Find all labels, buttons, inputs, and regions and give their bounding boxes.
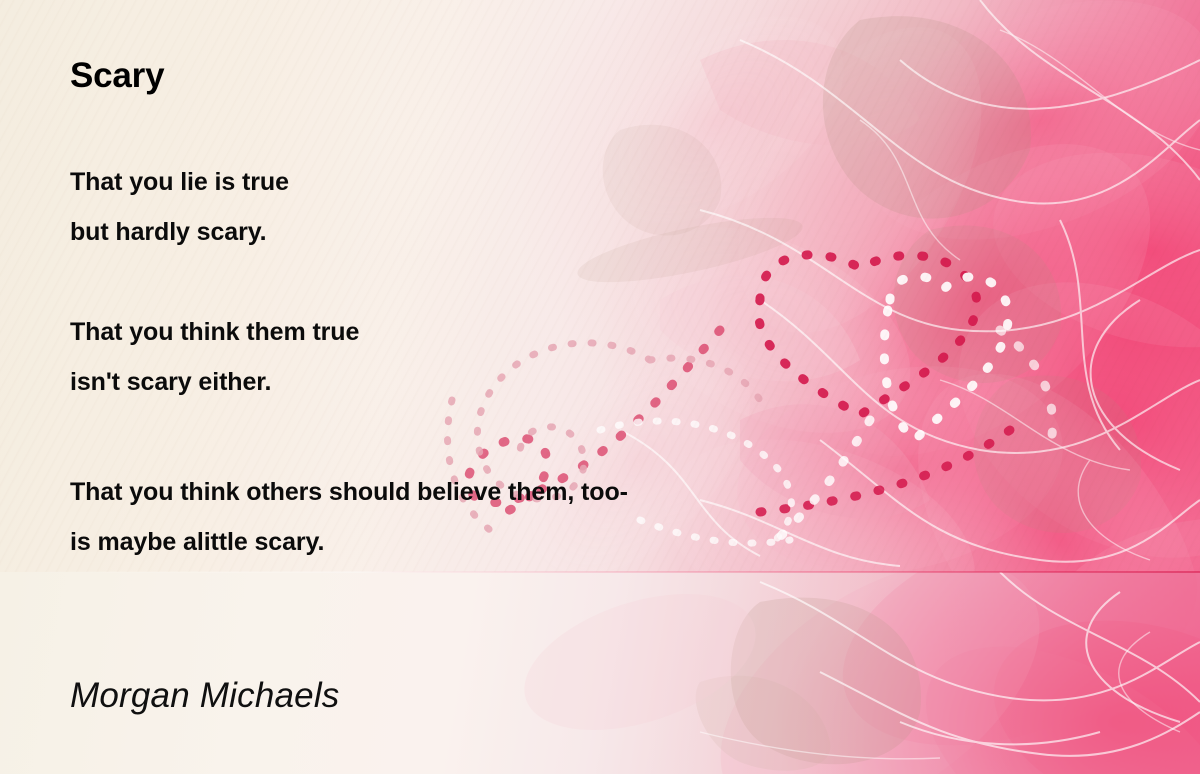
- poem-line: That you think others should believe the…: [70, 467, 628, 517]
- poem-stanza: That you think them true isn't scary eit…: [70, 307, 359, 407]
- poem-line: but hardly scary.: [70, 207, 289, 257]
- poem-title: Scary: [70, 56, 164, 96]
- poem-line: isn't scary either.: [70, 357, 359, 407]
- poem-line: is maybe alittle scary.: [70, 517, 628, 567]
- poem-author: Morgan Michaels: [70, 676, 340, 716]
- poem-text-block: Scary That you lie is true but hardly sc…: [70, 0, 1130, 774]
- poem-line: That you think them true: [70, 307, 359, 357]
- poem-line: That you lie is true: [70, 157, 289, 207]
- poem-stanza: That you think others should believe the…: [70, 467, 628, 567]
- poem-image-card: Scary That you lie is true but hardly sc…: [0, 0, 1200, 774]
- poem-stanza: That you lie is true but hardly scary.: [70, 157, 289, 257]
